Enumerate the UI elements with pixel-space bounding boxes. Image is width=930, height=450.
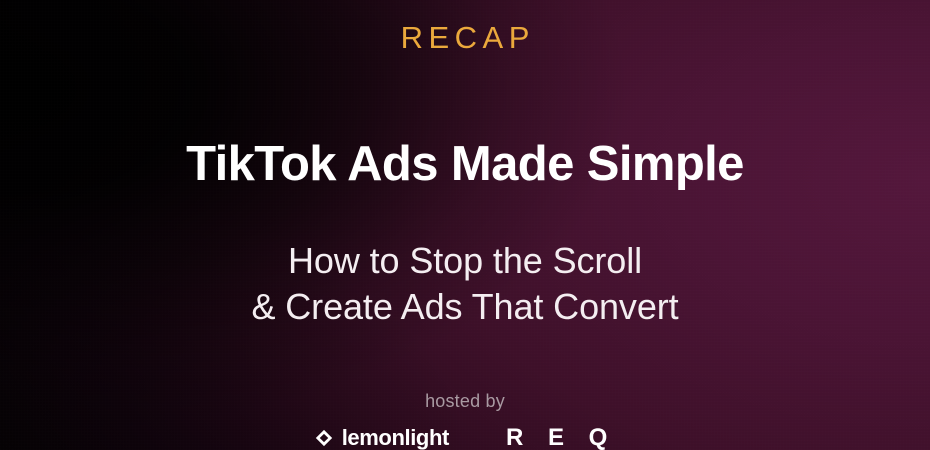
slide-content: RECAP TikTok Ads Made Simple How to Stop… xyxy=(0,0,930,450)
recap-slide: RECAP TikTok Ads Made Simple How to Stop… xyxy=(0,0,930,450)
subtitle-line-2: & Create Ads That Convert xyxy=(251,284,678,330)
hosted-by-label: hosted by xyxy=(425,392,505,410)
page-title: TikTok Ads Made Simple xyxy=(186,139,744,191)
subtitle: How to Stop the Scroll & Create Ads That… xyxy=(251,238,678,330)
diamond-icon xyxy=(314,428,334,448)
eyebrow-label: RECAP xyxy=(395,22,535,53)
logo-lemonlight: lemonlight xyxy=(314,427,449,449)
subtitle-line-1: How to Stop the Scroll xyxy=(251,238,678,284)
host-logos: lemonlight R E Q xyxy=(314,426,617,450)
logo-req: R E Q xyxy=(497,426,616,450)
logo-lemonlight-wordmark: lemonlight xyxy=(342,427,449,449)
